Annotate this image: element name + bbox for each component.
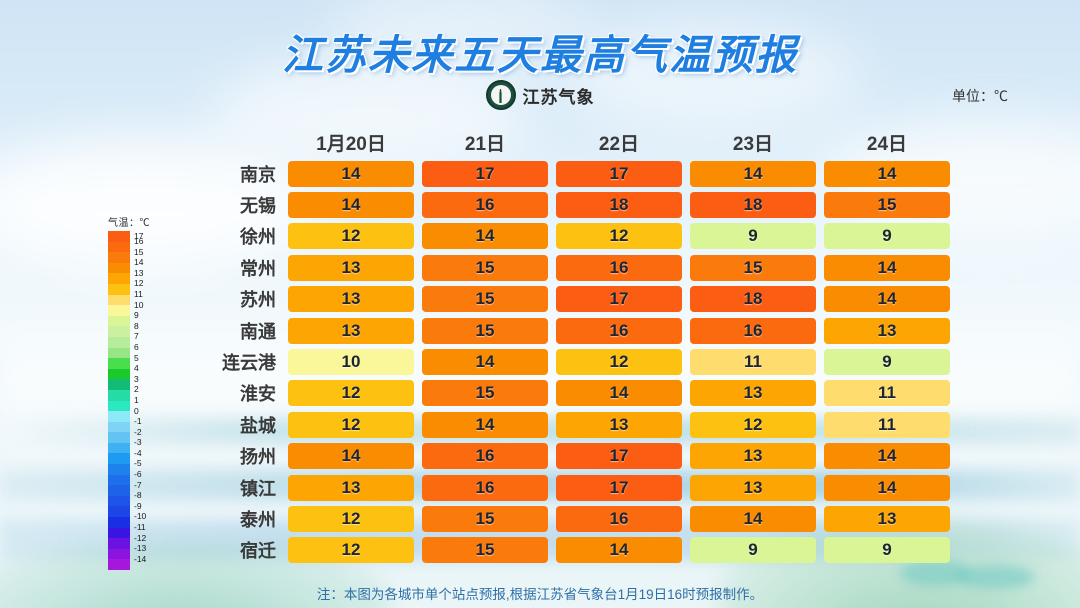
- weather-bureau-seal-icon: [486, 80, 516, 110]
- colorbar-swatch: [108, 252, 130, 263]
- city-label: 南京: [196, 161, 288, 187]
- colorbar-tick-label: 10: [134, 300, 164, 311]
- table-header-day-1: 1月20日: [288, 129, 414, 156]
- table-row: 盐城1214131211: [196, 409, 950, 440]
- temperature-cell: 12: [288, 506, 414, 532]
- temperature-cell: 10: [288, 349, 414, 375]
- temperature-cell: 15: [824, 192, 950, 218]
- colorbar-tick-label: 0: [134, 406, 164, 417]
- colorbar-swatch: [108, 517, 130, 528]
- colorbar-tick-label: -11: [134, 522, 164, 533]
- temperature-cell: 15: [690, 255, 816, 281]
- colorbar-tick-label: 5: [134, 353, 164, 364]
- colorbar-tick-label: 2: [134, 384, 164, 395]
- colorbar-swatch: [108, 559, 130, 570]
- city-label: 泰州: [196, 506, 288, 532]
- temperature-cell: 17: [556, 443, 682, 469]
- temperature-cell: 11: [824, 380, 950, 406]
- temperature-cell: 13: [824, 506, 950, 532]
- temperature-cell: 9: [824, 349, 950, 375]
- colorbar-tick-label: -7: [134, 480, 164, 491]
- temperature-cell: 15: [422, 380, 548, 406]
- temperature-cell: 17: [422, 161, 548, 187]
- temperature-cell: 12: [288, 380, 414, 406]
- temperature-cell: 14: [824, 286, 950, 312]
- colorbar-tick-label: 16: [134, 236, 164, 247]
- brand-logo: 江苏气象: [0, 80, 1080, 110]
- forecast-table: 1月20日21日22日23日24日 南京1417171414无锡14161818…: [196, 126, 950, 566]
- colorbar-swatch: [108, 305, 130, 316]
- temperature-cell: 13: [288, 475, 414, 501]
- city-label: 淮安: [196, 380, 288, 406]
- temperature-cell: 13: [288, 318, 414, 344]
- temperature-cell: 18: [556, 192, 682, 218]
- colorbar-swatch: [108, 263, 130, 274]
- colorbar-swatch: [108, 485, 130, 496]
- colorbar-tick-label: 12: [134, 278, 164, 289]
- colorbar-tick-label: 8: [134, 321, 164, 332]
- temperature-cell: 14: [288, 443, 414, 469]
- colorbar-swatch: [108, 326, 130, 337]
- colorbar-tick-label: 9: [134, 310, 164, 321]
- temperature-cell: 14: [288, 192, 414, 218]
- temperature-cell: 14: [824, 161, 950, 187]
- colorbar-tick-label: -1: [134, 416, 164, 427]
- city-label: 常州: [196, 255, 288, 281]
- colorbar-tick-label: -5: [134, 458, 164, 469]
- temperature-cell: 13: [690, 475, 816, 501]
- temperature-cell: 14: [690, 161, 816, 187]
- temperature-cell: 16: [556, 506, 682, 532]
- city-label: 南通: [196, 318, 288, 344]
- temperature-cell: 16: [422, 475, 548, 501]
- colorbar-swatch: [108, 231, 130, 242]
- page-title: 江苏未来五天最高气温预报: [0, 21, 1080, 81]
- colorbar-swatch: [108, 316, 130, 327]
- table-row: 淮安1215141311: [196, 378, 950, 409]
- temperature-cell: 15: [422, 537, 548, 563]
- colorbar-swatch: [108, 453, 130, 464]
- colorbar-tick-label: 6: [134, 342, 164, 353]
- temperature-cell: 16: [690, 318, 816, 344]
- colorbar-tick-label: -8: [134, 490, 164, 501]
- colorbar-swatch: [108, 496, 130, 507]
- colorbar-swatch: [108, 401, 130, 412]
- temperature-cell: 17: [556, 475, 682, 501]
- temperature-cell: 12: [288, 412, 414, 438]
- temperature-cell: 14: [824, 443, 950, 469]
- colorbar-swatch: [108, 379, 130, 390]
- colorbar-swatch: [108, 358, 130, 369]
- temperature-cell: 14: [288, 161, 414, 187]
- footer-note: 注：本图为各城市单个站点预报,根据江苏省气象台1月19日16时预报制作。: [0, 583, 1080, 603]
- table-body: 南京1417171414无锡1416181815徐州12141299常州1315…: [196, 158, 950, 566]
- temperature-cell: 15: [422, 286, 548, 312]
- temperature-cell: 13: [556, 412, 682, 438]
- colorbar-swatch: [108, 348, 130, 359]
- colorbar-tick-label: -12: [134, 533, 164, 544]
- colorbar-tick-label: -13: [134, 543, 164, 554]
- colorbar-swatch: [108, 432, 130, 443]
- colorbar-tick-label: -4: [134, 448, 164, 459]
- colorbar-swatch: [108, 242, 130, 253]
- unit-label: 单位：℃: [952, 86, 1008, 106]
- temperature-cell: 15: [422, 255, 548, 281]
- temperature-cell: 14: [824, 255, 950, 281]
- colorbar-labels: 17161514131211109876543210-1-2-3-4-5-6-7…: [130, 231, 164, 570]
- temperature-cell: 14: [422, 412, 548, 438]
- temperature-cell: 9: [690, 223, 816, 249]
- temperature-cell: 9: [824, 223, 950, 249]
- temperature-cell: 12: [288, 537, 414, 563]
- table-row: 镇江1316171314: [196, 472, 950, 503]
- city-label: 徐州: [196, 223, 288, 249]
- colorbar-tick-label: 13: [134, 268, 164, 279]
- table-row: 无锡1416181815: [196, 189, 950, 220]
- temperature-cell: 14: [556, 537, 682, 563]
- temperature-cell: 18: [690, 286, 816, 312]
- temperature-cell: 12: [556, 223, 682, 249]
- colorbar-swatch: [108, 369, 130, 380]
- city-label: 盐城: [196, 412, 288, 438]
- table-header-day-5: 24日: [824, 129, 950, 156]
- temperature-cell: 16: [422, 192, 548, 218]
- colorbar-swatch: [108, 549, 130, 560]
- colorbar-swatch: [108, 538, 130, 549]
- temperature-cell: 14: [422, 349, 548, 375]
- colorbar-swatch: [108, 284, 130, 295]
- city-label: 连云港: [196, 349, 288, 375]
- colorbar-swatch: [108, 273, 130, 284]
- temperature-cell: 11: [824, 412, 950, 438]
- table-header-row: 1月20日21日22日23日24日: [196, 126, 950, 158]
- colorbar-tick-label: 11: [134, 289, 164, 300]
- colorbar-swatch: [108, 528, 130, 539]
- colorbar-swatch: [108, 506, 130, 517]
- table-row: 宿迁12151499: [196, 535, 950, 566]
- temperature-cell: 16: [556, 318, 682, 344]
- colorbar-swatch: [108, 443, 130, 454]
- colorbar-swatch: [108, 337, 130, 348]
- table-row: 徐州12141299: [196, 221, 950, 252]
- colorbar-title: 气温：℃: [108, 214, 168, 229]
- colorbar-swatch: [108, 422, 130, 433]
- temperature-cell: 14: [556, 380, 682, 406]
- colorbar-swatch: [108, 464, 130, 475]
- colorbar-swatch: [108, 295, 130, 306]
- colorbar-tick-label: -10: [134, 511, 164, 522]
- temperature-cell: 14: [824, 475, 950, 501]
- colorbar-tick-label: 3: [134, 374, 164, 385]
- temperature-cell: 14: [422, 223, 548, 249]
- temperature-cell: 9: [690, 537, 816, 563]
- temperature-cell: 13: [824, 318, 950, 344]
- city-label: 苏州: [196, 286, 288, 312]
- colorbar-swatch: [108, 390, 130, 401]
- table-row: 南京1417171414: [196, 158, 950, 189]
- temperature-cell: 16: [556, 255, 682, 281]
- colorbar-tick-label: 4: [134, 363, 164, 374]
- table-row: 泰州1215161413: [196, 503, 950, 534]
- temperature-cell: 15: [422, 506, 548, 532]
- temperature-colorbar: 气温：℃ 17161514131211109876543210-1-2-3-4-…: [108, 214, 168, 570]
- temperature-cell: 15: [422, 318, 548, 344]
- colorbar-swatches: [108, 231, 130, 570]
- temperature-cell: 17: [556, 161, 682, 187]
- city-label: 镇江: [196, 475, 288, 501]
- temperature-cell: 12: [556, 349, 682, 375]
- temperature-cell: 13: [288, 286, 414, 312]
- table-header-day-4: 23日: [690, 129, 816, 156]
- temperature-cell: 12: [690, 412, 816, 438]
- city-label: 宿迁: [196, 537, 288, 563]
- temperature-cell: 17: [556, 286, 682, 312]
- colorbar-swatch: [108, 475, 130, 486]
- colorbar-tick-label: 1: [134, 395, 164, 406]
- temperature-cell: 12: [288, 223, 414, 249]
- colorbar-tick-label: -2: [134, 427, 164, 438]
- temperature-cell: 18: [690, 192, 816, 218]
- colorbar-tick-label: -3: [134, 437, 164, 448]
- temperature-cell: 13: [690, 380, 816, 406]
- table-row: 南通1315161613: [196, 315, 950, 346]
- colorbar-tick-label: -6: [134, 469, 164, 480]
- colorbar-swatch: [108, 411, 130, 422]
- city-label: 无锡: [196, 192, 288, 218]
- table-header-day-3: 22日: [556, 129, 682, 156]
- table-row: 连云港101412119: [196, 346, 950, 377]
- temperature-cell: 9: [824, 537, 950, 563]
- colorbar-tick-label: 7: [134, 331, 164, 342]
- temperature-cell: 11: [690, 349, 816, 375]
- colorbar-tick-label: 15: [134, 247, 164, 258]
- table-row: 苏州1315171814: [196, 284, 950, 315]
- table-row: 常州1315161514: [196, 252, 950, 283]
- colorbar-tick-label: 14: [134, 257, 164, 268]
- brand-name: 江苏气象: [523, 83, 595, 108]
- temperature-cell: 13: [690, 443, 816, 469]
- table-row: 扬州1416171314: [196, 441, 950, 472]
- temperature-cell: 13: [288, 255, 414, 281]
- temperature-cell: 16: [422, 443, 548, 469]
- table-header-day-2: 21日: [422, 129, 548, 156]
- colorbar-tick-label: -9: [134, 501, 164, 512]
- city-label: 扬州: [196, 443, 288, 469]
- temperature-cell: 14: [690, 506, 816, 532]
- colorbar-tick-label: -14: [134, 554, 164, 565]
